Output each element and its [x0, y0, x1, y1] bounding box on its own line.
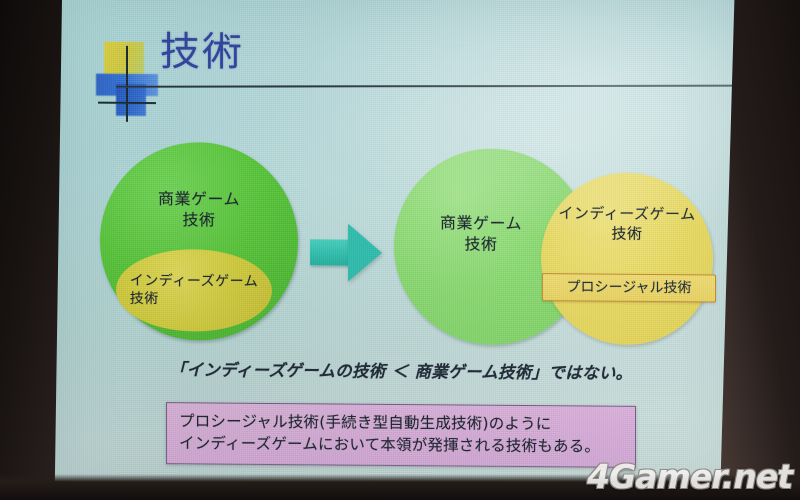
note-line-2: インディーズゲームにおいて本領が発揮される技術もある。 — [179, 432, 625, 458]
logo-vertical-line — [126, 46, 128, 122]
watermark: 4Gamer.net — [587, 457, 792, 496]
slide-logo-icon — [96, 42, 162, 121]
photo-left-border — [0, 0, 62, 500]
slide-title: 技術 — [160, 32, 244, 73]
arrow-head — [348, 224, 382, 282]
projected-slide-photo: 技術 商業ゲーム 技術 インディーズゲーム 技術 — [0, 0, 800, 500]
logo-yellow-square — [104, 42, 144, 76]
slide-caption: 「インディーズゲームの技術 ＜ 商業ゲーム技術」ではない。 — [54, 355, 748, 384]
arrow-shaft — [310, 239, 352, 265]
logo-horizontal-line — [98, 102, 156, 104]
before-indie-game-label: インディーズゲーム 技術 — [130, 271, 258, 309]
logo-blue-square — [116, 84, 146, 116]
before-indie-game-ellipse: インディーズゲーム 技術 — [116, 249, 272, 332]
procedural-technology-label: プロシージャル技術 — [566, 278, 691, 297]
procedural-technology-chip: プロシージャル技術 — [542, 273, 716, 302]
presentation-slide: 技術 商業ゲーム 技術 インディーズゲーム 技術 — [54, 0, 748, 487]
title-underline-rule — [116, 85, 744, 88]
slide-note-box: プロシージャル技術(手続き型自動生成技術)のように インディーズゲームにおいて本… — [166, 402, 636, 468]
right-arrow-icon — [310, 223, 382, 282]
after-indie-game-circle: インディーズゲーム 技術 — [541, 172, 713, 345]
after-indie-game-label: インディーズゲーム 技術 — [541, 204, 713, 245]
before-commercial-game-label: 商業ゲーム 技術 — [100, 188, 298, 232]
after-commercial-game-label: 商業ゲーム 技術 — [416, 212, 546, 255]
